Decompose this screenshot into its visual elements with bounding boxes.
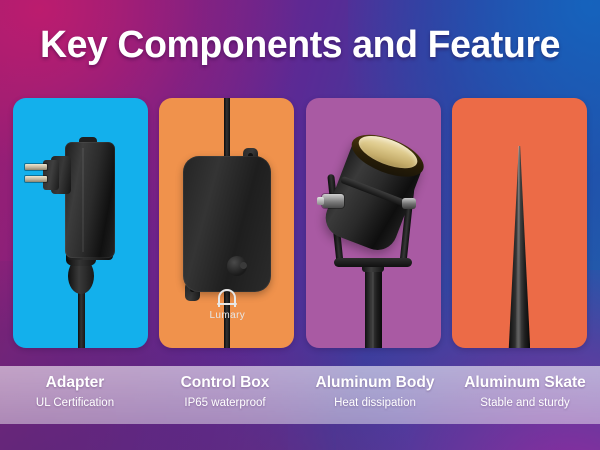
caption-sub-control-box: IP65 waterproof <box>150 395 300 411</box>
caption-title-adapter: Adapter <box>2 373 148 393</box>
product-card-aluminum-body <box>306 98 441 348</box>
spotlight-adjust-screw-right <box>402 198 416 209</box>
ground-spike-tip-edge <box>518 146 520 276</box>
spotlight-stake <box>365 266 382 348</box>
caption-sub-aluminum-body: Heat dissipation <box>300 395 450 411</box>
product-card-row: Lumary <box>13 98 587 348</box>
caption-control-box: Control Box IP65 waterproof <box>150 366 300 424</box>
caption-aluminum-skate: Aluminum Skate Stable and sturdy <box>450 366 600 424</box>
adapter-illustration <box>13 98 148 348</box>
ground-spike-illustration <box>452 98 587 348</box>
control-box-body: Lumary <box>183 156 271 292</box>
product-card-adapter <box>13 98 148 348</box>
spotlight-adjust-screw-left <box>322 194 344 208</box>
spotlight-illustration <box>306 98 441 348</box>
caption-title-aluminum-body: Aluminum Body <box>302 373 448 393</box>
lumary-logo: Lumary <box>183 288 271 321</box>
product-card-aluminum-skate <box>452 98 587 348</box>
poster-title: Key Components and Feature <box>5 22 596 68</box>
caption-title-control-box: Control Box <box>152 373 298 393</box>
lumary-logo-text: Lumary <box>183 310 271 321</box>
product-feature-poster: Key Components and Feature <box>0 0 600 450</box>
spotlight-lens-bezel <box>346 126 429 185</box>
caption-row: Adapter UL Certification Control Box IP6… <box>0 366 600 424</box>
spotlight-lens <box>354 129 421 175</box>
spotlight-body-ring <box>340 176 408 208</box>
control-box-power-button <box>227 256 247 276</box>
control-box-illustration: Lumary <box>159 98 294 348</box>
adapter-prong-upper <box>25 164 47 170</box>
caption-title-aluminum-skate: Aluminum Skate <box>452 373 598 393</box>
caption-sub-aluminum-skate: Stable and sturdy <box>450 395 600 411</box>
adapter-prong-lower <box>25 176 47 182</box>
adapter-body <box>65 142 115 258</box>
lumary-logo-mark-icon <box>217 288 237 308</box>
caption-adapter: Adapter UL Certification <box>0 366 150 424</box>
caption-sub-adapter: UL Certification <box>0 395 150 411</box>
product-card-control-box: Lumary <box>159 98 294 348</box>
spotlight-yoke-base <box>334 258 412 267</box>
caption-aluminum-body: Aluminum Body Heat dissipation <box>300 366 450 424</box>
